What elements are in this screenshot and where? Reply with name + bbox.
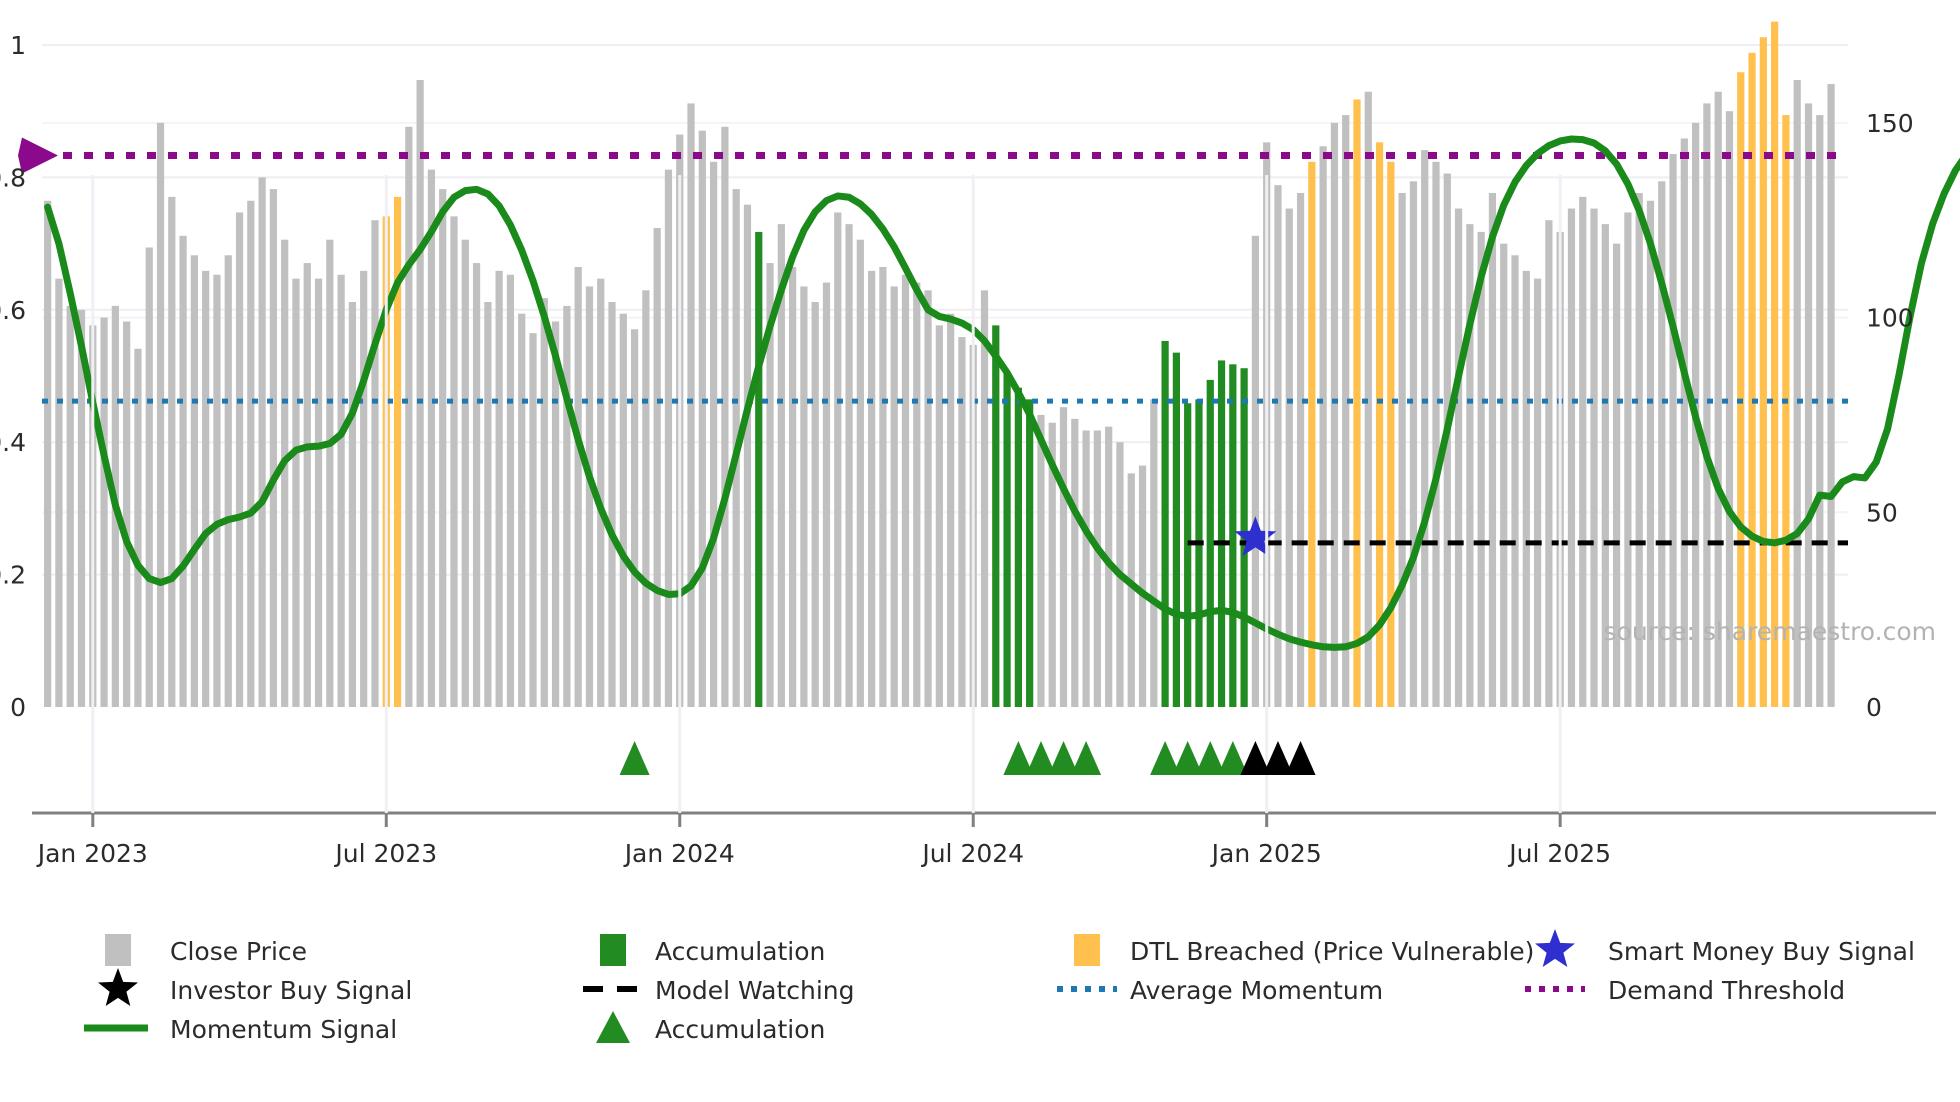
bar-close-price [947, 314, 954, 707]
bar-close-price [654, 228, 661, 707]
bar-dtl-breached [1748, 53, 1755, 707]
legend-label: Investor Buy Signal [170, 976, 412, 1005]
bar-close-price [450, 216, 457, 707]
bar-close-price [1331, 123, 1338, 707]
bar-close-price [1579, 197, 1586, 707]
bar-close-price [1523, 271, 1530, 707]
bar-close-price [1297, 193, 1304, 707]
bar-close-price [484, 302, 491, 707]
legend-label: Accumulation [655, 937, 825, 966]
bar-close-price [823, 283, 830, 707]
bar-close-price [699, 131, 706, 707]
bar-close-price [247, 201, 254, 707]
x-axis-tick-label: Jan 2025 [1210, 839, 1322, 868]
x-axis-tick-label: Jan 2023 [36, 839, 148, 868]
bar-accumulation [1173, 353, 1180, 707]
left-axis-tick-label: 0.2 [0, 561, 26, 590]
bar-close-price [1827, 84, 1834, 707]
left-axis-tick-label: 0.8 [0, 163, 26, 192]
bar-close-price [1432, 162, 1439, 707]
stock-momentum-chart: 10.80.60.40.20150100500Jan 2023Jul 2023J… [0, 0, 1960, 1102]
bar-close-price [1455, 209, 1462, 707]
bar-close-price [924, 290, 931, 707]
bar-close-price [1794, 80, 1801, 707]
bar-accumulation [992, 325, 999, 707]
bar-close-price [812, 302, 819, 707]
square-icon [1074, 934, 1100, 966]
bar-accumulation [1026, 399, 1033, 707]
bar-close-price [1715, 92, 1722, 707]
bar-close-price [552, 321, 559, 707]
bar-close-price [473, 263, 480, 707]
left-axis-tick-label: 0.4 [0, 428, 26, 457]
bar-close-price [981, 290, 988, 707]
bar-close-price [1252, 236, 1259, 707]
bar-close-price [721, 127, 728, 707]
x-axis-tick-label: Jan 2024 [623, 839, 735, 868]
bar-accumulation [1015, 388, 1022, 707]
bar-accumulation [1207, 380, 1214, 707]
bar-close-price [1037, 415, 1044, 707]
bar-close-price [575, 267, 582, 707]
chart-root: 10.80.60.40.20150100500Jan 2023Jul 2023J… [0, 0, 1960, 1102]
bar-dtl-breached [1387, 162, 1394, 707]
bar-close-price [270, 189, 277, 707]
bar-close-price [179, 236, 186, 707]
right-axis-tick-label: 150 [1866, 109, 1914, 138]
x-axis-tick-label: Jul 2025 [1507, 839, 1611, 868]
bar-dtl-breached [1353, 100, 1360, 707]
bar-close-price [1094, 431, 1101, 707]
bar-accumulation [755, 232, 762, 707]
bar-close-price [1421, 150, 1428, 707]
bar-close-price [687, 103, 694, 707]
bar-close-price [55, 279, 62, 707]
x-axis-tick-label: Jul 2023 [333, 839, 437, 868]
bar-close-price [1568, 209, 1575, 707]
bar-close-price [1150, 399, 1157, 707]
bar-close-price [834, 212, 841, 707]
bar-close-price [1545, 220, 1552, 707]
bar-close-price [371, 220, 378, 707]
bar-close-price [236, 212, 243, 707]
bar-close-price [631, 329, 638, 707]
bar-close-price [608, 302, 615, 707]
bar-close-price [258, 177, 265, 707]
bar-close-price [462, 240, 469, 707]
bar-close-price [100, 318, 107, 707]
bar-close-price [1060, 407, 1067, 707]
bar-close-price [902, 275, 909, 707]
bar-close-price [1139, 466, 1146, 707]
left-axis-tick-label: 1 [10, 31, 26, 60]
bar-close-price [936, 325, 943, 707]
legend-label: Model Watching [655, 976, 855, 1005]
bar-close-price [1489, 193, 1496, 707]
bar-close-price [879, 267, 886, 707]
bar-close-price [1082, 431, 1089, 707]
bar-dtl-breached [1771, 22, 1778, 707]
bar-accumulation [1195, 399, 1202, 707]
bar-close-price [620, 314, 627, 707]
bar-close-price [1320, 146, 1327, 707]
bar-close-price [213, 275, 220, 707]
bar-close-price [529, 333, 536, 707]
bar-close-price [428, 170, 435, 707]
bar-close-price [338, 275, 345, 707]
bar-dtl-breached [1308, 162, 1315, 707]
bar-close-price [744, 205, 751, 707]
bar-close-price [405, 127, 412, 707]
bar-close-price [868, 271, 875, 707]
bar-close-price [123, 321, 130, 707]
left-axis-tick-label: 0.6 [0, 296, 26, 325]
bar-close-price [202, 271, 209, 707]
bar-close-price [789, 267, 796, 707]
bar-close-price [304, 263, 311, 707]
bar-dtl-breached [1760, 37, 1767, 707]
bar-close-price [146, 247, 153, 707]
bar-close-price [1274, 185, 1281, 707]
bar-close-price [958, 337, 965, 707]
bar-close-price [326, 240, 333, 707]
bar-close-price [642, 290, 649, 707]
bar-close-price [67, 306, 74, 707]
legend-label: DTL Breached (Price Vulnerable) [1130, 937, 1534, 966]
bar-close-price [800, 286, 807, 707]
bar-close-price [507, 275, 514, 707]
bar-close-price [292, 279, 299, 707]
legend-label: Accumulation [655, 1015, 825, 1044]
bar-accumulation [1218, 360, 1225, 707]
bar-close-price [857, 240, 864, 707]
bar-close-price [1466, 224, 1473, 707]
legend-label: Average Momentum [1130, 976, 1383, 1005]
bar-close-price [281, 240, 288, 707]
x-axis-tick-label: Jul 2024 [920, 839, 1024, 868]
source-attribution: source: sharemaestro.com [1604, 617, 1937, 646]
bar-close-price [1534, 279, 1541, 707]
bar-close-price [439, 189, 446, 707]
bar-close-price [1286, 209, 1293, 707]
bar-close-price [496, 271, 503, 707]
bar-close-price [1500, 244, 1507, 707]
bar-close-price [586, 286, 593, 707]
bar-close-price [541, 298, 548, 707]
legend-item[interactable]: DTL Breached (Price Vulnerable) [1074, 934, 1534, 966]
bar-close-price [168, 197, 175, 707]
bar-close-price [44, 201, 51, 707]
legend-label: Close Price [170, 937, 307, 966]
bar-close-price [845, 224, 852, 707]
legend-label: Smart Money Buy Signal [1608, 937, 1915, 966]
right-axis-tick-label: 50 [1866, 498, 1898, 527]
bar-close-price [417, 80, 424, 707]
bar-close-price [665, 170, 672, 707]
right-axis-tick-label: 0 [1866, 693, 1882, 722]
bar-close-price [1071, 419, 1078, 707]
bar-close-price [1511, 255, 1518, 707]
legend-label: Momentum Signal [170, 1015, 397, 1044]
bar-accumulation [1184, 403, 1191, 707]
bar-close-price [360, 271, 367, 707]
square-icon [600, 934, 626, 966]
square-icon [105, 934, 131, 966]
bar-close-price [225, 255, 232, 707]
bar-accumulation [1161, 341, 1168, 707]
bar-close-price [1399, 193, 1406, 707]
bar-accumulation [1229, 364, 1236, 707]
bar-close-price [191, 255, 198, 707]
bar-close-price [157, 123, 164, 707]
bar-accumulation [1003, 372, 1010, 707]
legend-label: Demand Threshold [1608, 976, 1845, 1005]
bar-close-price [913, 283, 920, 707]
bar-close-price [710, 162, 717, 707]
bar-close-price [1342, 115, 1349, 707]
right-axis-tick-label: 100 [1866, 304, 1914, 333]
bar-dtl-breached [1737, 72, 1744, 707]
bar-close-price [315, 279, 322, 707]
bar-close-price [891, 286, 898, 707]
bar-close-price [1478, 232, 1485, 707]
left-axis-tick-label: 0 [10, 693, 26, 722]
bar-close-price [518, 314, 525, 707]
bar-close-price [563, 306, 570, 707]
bar-close-price [1590, 209, 1597, 707]
bar-close-price [1410, 181, 1417, 707]
bar-close-price [349, 302, 356, 707]
